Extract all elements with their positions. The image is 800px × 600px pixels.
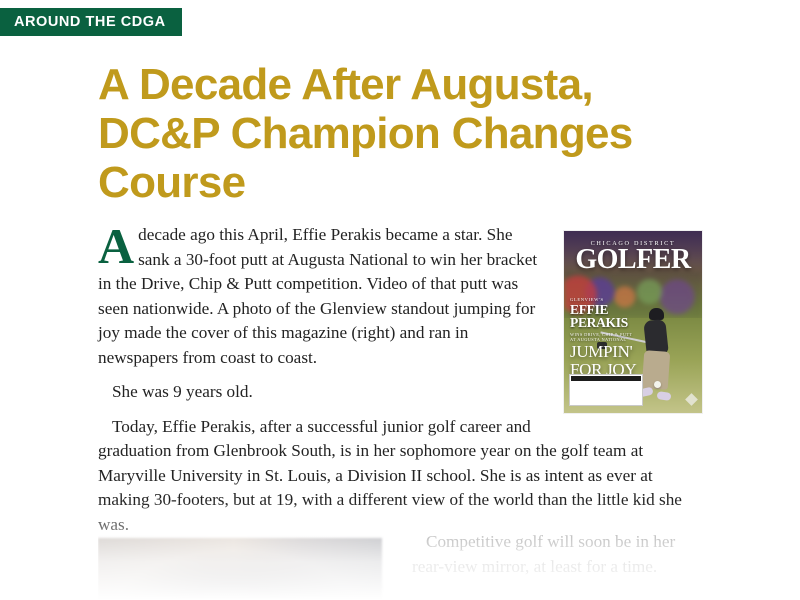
kicker-bar: AROUND THE CDGA — [0, 8, 182, 36]
magazine-cover-image[interactable]: CHICAGO DISTRICT GOLFER GLENVIEW'S EFFIE… — [564, 231, 702, 413]
cover-masthead: GOLFER — [564, 246, 702, 274]
article-continuation-row: Competitive golf will soon be in her rea… — [98, 530, 702, 600]
cover-name-line-2: PERAKIS — [570, 316, 638, 329]
kicker-label[interactable]: AROUND THE CDGA — [0, 8, 182, 36]
page-title: A Decade After Augusta, DC&P Champion Ch… — [98, 60, 678, 207]
article-container: A Decade After Augusta, DC&P Champion Ch… — [98, 60, 702, 547]
golfer-shoe-right — [657, 391, 672, 401]
cover-headline: JUMPIN' FOR JOY — [570, 343, 636, 378]
golf-ball-icon — [654, 381, 661, 388]
article-paragraph-3: Today, Effie Perakis, after a successful… — [98, 415, 702, 538]
article-photo-thumbnail[interactable] — [98, 538, 382, 600]
cover-mailing-label — [569, 374, 643, 406]
cover-mailing-label-bar — [571, 376, 641, 381]
cover-eyebrow: GLENVIEW'S — [570, 297, 638, 302]
cover-cover-lines: GLENVIEW'S EFFIE PERAKIS WINS DRIVE, CHI… — [570, 297, 638, 343]
cover-headline-line-1: JUMPIN' — [570, 343, 636, 361]
drop-cap: A — [98, 224, 138, 267]
golfer-figure — [637, 306, 677, 402]
golfer-cap — [649, 308, 664, 320]
article-paragraph-1-text: decade ago this April, Effie Perakis bec… — [98, 225, 537, 367]
article-teaser-text: Competitive golf will soon be in her rea… — [412, 530, 702, 579]
